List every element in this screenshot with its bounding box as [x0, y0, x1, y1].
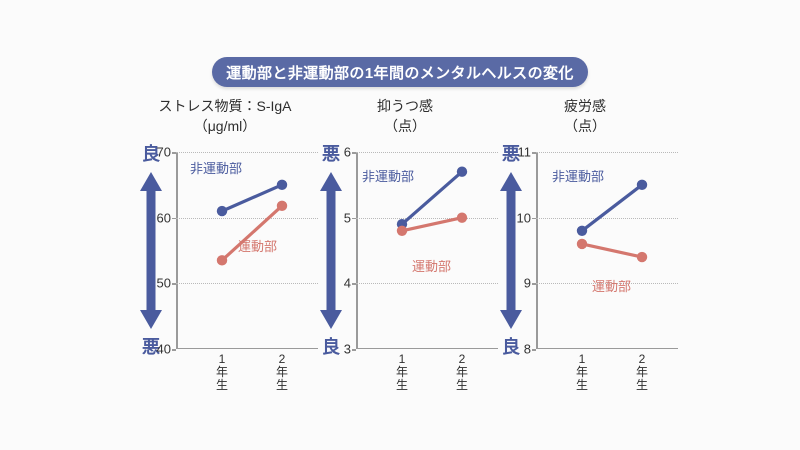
chart-page: 運動部と非運動部の1年間のメンタルヘルスの変化 ストレス物質：S-IgA（μg/… — [0, 0, 800, 450]
y-tick-mark — [532, 349, 536, 351]
x-tick-label-2: 2年生 — [267, 353, 297, 392]
data-point-non-club-2 — [277, 180, 287, 190]
page-title: 運動部と非運動部の1年間のメンタルヘルスの変化 — [226, 62, 574, 83]
y-tick-label: 3 — [344, 342, 351, 357]
series-label-club-fatigue: 運動部 — [592, 276, 631, 295]
data-point-club-2 — [277, 201, 287, 211]
panel-unit-fatigue: （点） — [480, 116, 690, 136]
y-tick-label: 60 — [157, 210, 171, 225]
panel-unit-depression: （点） — [300, 116, 510, 136]
double-arrow-icon — [319, 172, 343, 329]
chart-panel-fatigue: 疲労感（点）悪良111098非運動部運動部1年生2年生 — [480, 96, 690, 396]
data-point-club-1 — [397, 226, 407, 236]
data-point-non-club-1 — [217, 206, 227, 216]
series-label-non-club-depression: 非運動部 — [362, 166, 414, 185]
y-tick-label: 5 — [344, 210, 351, 225]
series-label-non-club-fatigue: 非運動部 — [552, 166, 604, 185]
x-tick-char: 生 — [627, 379, 657, 392]
y-tick-label: 4 — [344, 276, 351, 291]
y-tick-label: 40 — [157, 342, 171, 357]
series-line-non-club — [582, 185, 642, 231]
x-tick-char: 生 — [207, 379, 237, 392]
y-tick-label: 70 — [157, 145, 171, 160]
double-arrow-icon — [499, 172, 523, 329]
y-tick-label: 8 — [524, 342, 531, 357]
title-banner: 運動部と非運動部の1年間のメンタルヘルスの変化 — [212, 57, 588, 87]
chart-panel-depression: 抑うつ感（点）悪良6543非運動部運動部1年生2年生 — [300, 96, 510, 396]
panel-title-fatigue: 疲労感 — [480, 96, 690, 116]
plot-area-stress: 70605040非運動部運動部1年生2年生 — [176, 152, 318, 349]
panel-title-stress: ストレス物質：S-IgA — [120, 96, 330, 116]
panel-title-depression: 抑うつ感 — [300, 96, 510, 116]
y-tick-label: 50 — [157, 276, 171, 291]
series-label-club-stress: 運動部 — [238, 236, 277, 255]
data-point-non-club-1 — [577, 226, 587, 236]
direction-indicator-stress: 良悪 — [128, 148, 174, 353]
x-tick-label-2: 2年生 — [627, 353, 657, 392]
double-arrow-icon — [139, 172, 163, 329]
y-tick-label: 6 — [344, 145, 351, 160]
series-line-club — [402, 218, 462, 231]
data-point-club-2 — [457, 212, 467, 222]
y-tick-label: 9 — [524, 276, 531, 291]
data-point-non-club-2 — [637, 180, 647, 190]
data-point-club-1 — [217, 255, 227, 265]
plot-area-fatigue: 111098非運動部運動部1年生2年生 — [536, 152, 678, 349]
chart-panel-stress: ストレス物質：S-IgA（μg/ml）良悪70605040非運動部運動部1年生2… — [120, 96, 330, 396]
data-point-club-1 — [577, 239, 587, 249]
series-label-non-club-stress: 非運動部 — [190, 158, 242, 177]
plot-area-depression: 6543非運動部運動部1年生2年生 — [356, 152, 498, 349]
data-point-non-club-2 — [457, 167, 467, 177]
y-tick-mark — [172, 349, 176, 351]
series-label-club-depression: 運動部 — [412, 256, 451, 275]
panel-unit-stress: （μg/ml） — [120, 116, 330, 136]
data-point-club-2 — [637, 252, 647, 262]
x-tick-label-2: 2年生 — [447, 353, 477, 392]
x-tick-char: 生 — [447, 379, 477, 392]
x-tick-label-1: 1年生 — [387, 353, 417, 392]
series-line-non-club — [222, 185, 282, 211]
x-tick-char: 生 — [567, 379, 597, 392]
series-line-club — [582, 244, 642, 257]
y-tick-label: 10 — [517, 210, 531, 225]
direction-indicator-fatigue: 悪良 — [488, 148, 534, 353]
x-tick-label-1: 1年生 — [207, 353, 237, 392]
x-tick-char: 生 — [387, 379, 417, 392]
x-tick-char: 生 — [267, 379, 297, 392]
y-tick-label: 11 — [518, 145, 532, 160]
direction-indicator-depression: 悪良 — [308, 148, 354, 353]
y-tick-mark — [352, 349, 356, 351]
x-tick-label-1: 1年生 — [567, 353, 597, 392]
